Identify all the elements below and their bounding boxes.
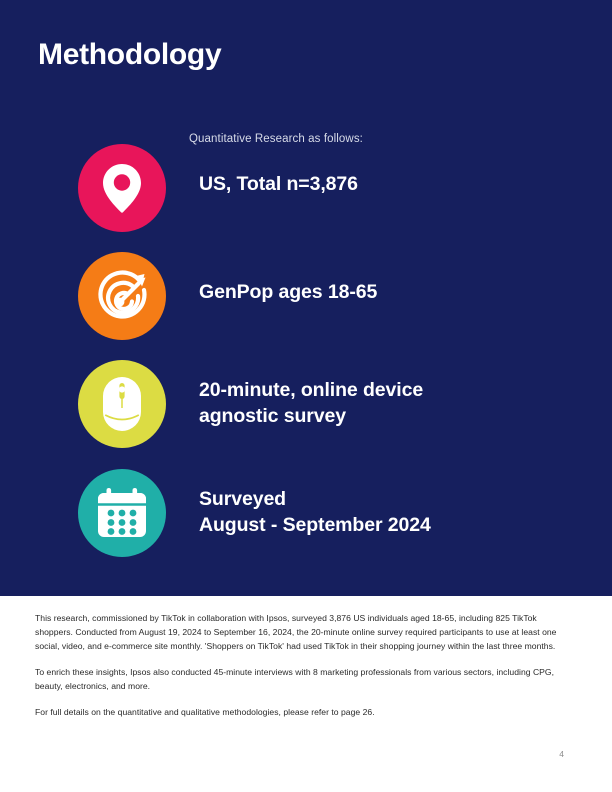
slide-page: Methodology Quantitative Research as fol… <box>0 0 612 792</box>
list-item-label: US, Total n=3,876 <box>199 172 358 198</box>
list-item-label: Surveyed August - September 2024 <box>199 487 431 539</box>
page-title: Methodology <box>38 38 221 73</box>
list-item-label: GenPop ages 18-65 <box>199 280 377 306</box>
target-arrow-icon <box>78 252 166 340</box>
footnotes-block: This research, commissioned by TikTok in… <box>35 612 576 720</box>
list-item: Surveyed August - September 2024 <box>0 464 612 572</box>
hero-panel: Methodology Quantitative Research as fol… <box>0 0 612 596</box>
footnote-paragraph-3: For full details on the quantitative and… <box>35 706 576 720</box>
list-item: GenPop ages 18-65 <box>0 248 612 356</box>
page-number: 4 <box>559 749 564 759</box>
calendar-icon <box>78 469 166 557</box>
list-item-label: 20-minute, online device agnostic survey <box>199 378 423 430</box>
location-pin-icon <box>78 144 166 232</box>
list-item: US, Total n=3,876 <box>0 140 612 248</box>
footnote-paragraph-2: To enrich these insights, Ipsos also con… <box>35 666 576 694</box>
computer-mouse-icon <box>78 360 166 448</box>
footnote-paragraph-1: This research, commissioned by TikTok in… <box>35 612 576 654</box>
methodology-list: US, Total n=3,876 <box>0 140 612 572</box>
list-item: 20-minute, online device agnostic survey <box>0 356 612 464</box>
